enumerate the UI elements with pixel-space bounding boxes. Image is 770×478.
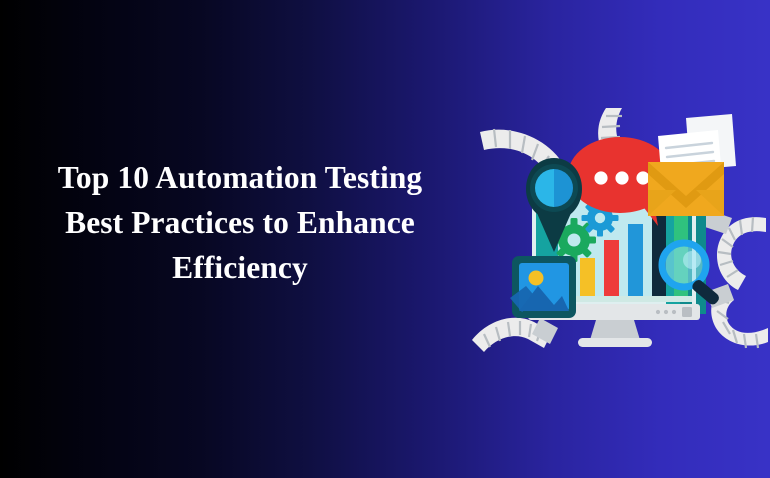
chat-dot-3 [636,171,649,184]
photo-sun-icon [529,271,544,286]
bar-blue [628,224,643,296]
automation-testing-illustration [470,100,770,360]
headline-line-3: Efficiency [14,245,466,290]
monitor-indicator-dots [656,310,676,314]
monitor-stand [590,320,640,340]
bar-yellow [580,258,595,296]
envelope-icon [648,114,736,216]
chat-dot-2 [615,171,628,184]
poster-canvas: Top 10 Automation Testing Best Practices… [0,0,770,478]
page-title: Top 10 Automation Testing Best Practices… [14,155,466,290]
robot-arm-bottom-left [472,318,558,352]
headline-line-1: Top 10 Automation Testing [14,155,466,200]
headline-line-2: Best Practices to Enhance [14,200,466,245]
monitor-base [578,338,652,347]
chat-dot-1 [594,171,607,184]
robot-arm-right-upper [702,210,766,290]
monitor-power-button[interactable] [682,307,692,317]
bar-red [604,240,619,296]
photo-icon [510,256,576,318]
